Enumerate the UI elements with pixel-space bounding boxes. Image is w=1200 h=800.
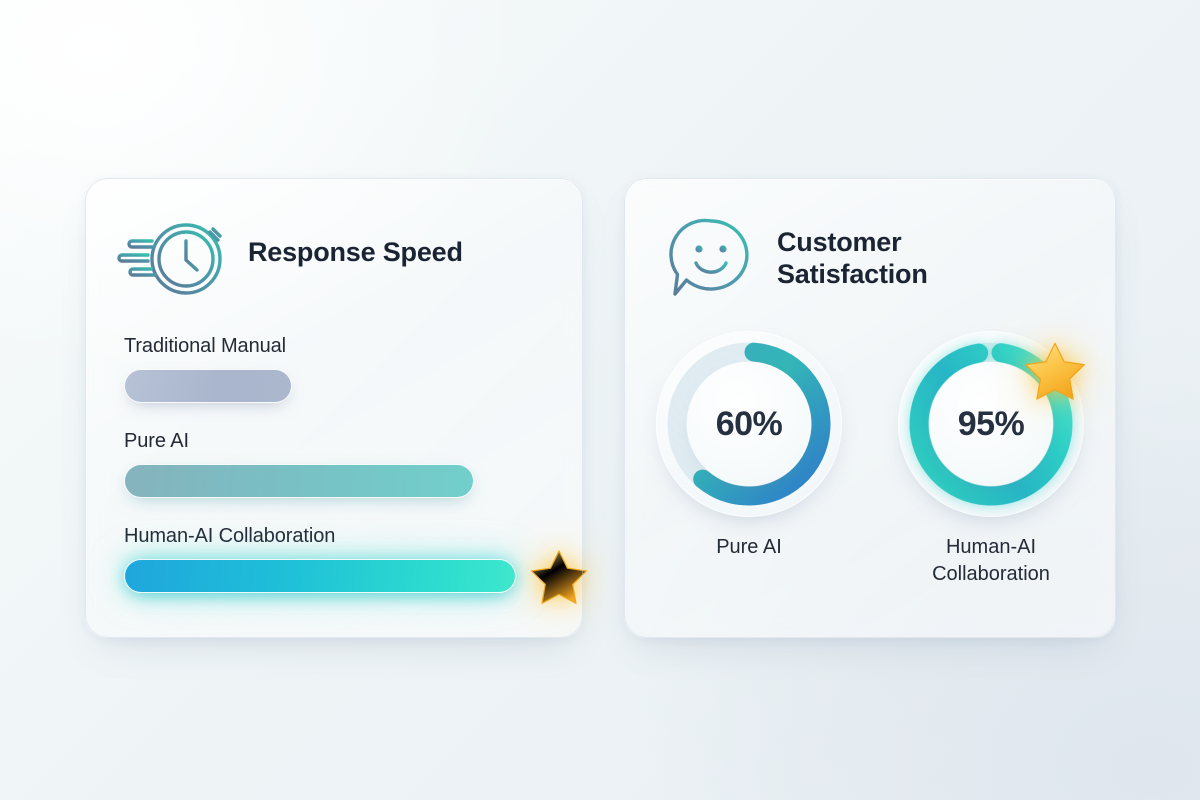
response-speed-header: Response Speed	[114, 207, 463, 299]
gauge-value: 95%	[958, 405, 1025, 444]
smiley-speech-bubble-icon	[667, 213, 755, 305]
gauge-pure-ai: 60% Pure AI	[656, 331, 842, 588]
dashboard-canvas: Response Speed Traditional Manual Pure A…	[0, 0, 1200, 800]
ring-center: 60%	[687, 362, 811, 486]
speed-metric-list: Traditional Manual Pure AI Human-AI Coll…	[124, 335, 554, 593]
progress-track	[124, 559, 554, 593]
satisfaction-gauge-list: 60% Pure AI	[625, 331, 1115, 588]
progress-track	[124, 369, 554, 403]
progress-track	[124, 464, 554, 498]
response-speed-card: Response Speed Traditional Manual Pure A…	[85, 178, 583, 638]
star-badge-icon	[1022, 337, 1088, 403]
progress-fill-human-ai-collaboration	[124, 559, 516, 593]
metric-label: Human-AI Collaboration	[124, 525, 554, 548]
gauge-caption: Pure AI	[656, 534, 842, 561]
progress-fill-traditional-manual	[124, 369, 292, 403]
metric-label: Pure AI	[124, 430, 554, 453]
star-badge-icon	[528, 545, 590, 607]
customer-satisfaction-card: Customer Satisfaction	[624, 178, 1116, 638]
customer-satisfaction-header: Customer Satisfaction	[667, 205, 928, 314]
gauge-caption: Human-AI Collaboration	[898, 534, 1084, 588]
metric-row-human-ai-collaboration: Human-AI Collaboration	[124, 525, 554, 593]
winged-stopwatch-icon	[114, 207, 226, 299]
metric-label: Traditional Manual	[124, 335, 554, 358]
gauge-value: 60%	[716, 405, 783, 444]
metric-row-traditional-manual: Traditional Manual	[124, 335, 554, 403]
page-title: Response Speed	[248, 237, 463, 269]
gauge-human-ai-collaboration: 95%	[898, 331, 1084, 588]
page-title: Customer Satisfaction	[777, 227, 928, 291]
donut-ring: 95%	[898, 331, 1084, 517]
donut-ring: 60%	[656, 331, 842, 517]
progress-fill-pure-ai	[124, 464, 474, 498]
metric-row-pure-ai: Pure AI	[124, 430, 554, 498]
